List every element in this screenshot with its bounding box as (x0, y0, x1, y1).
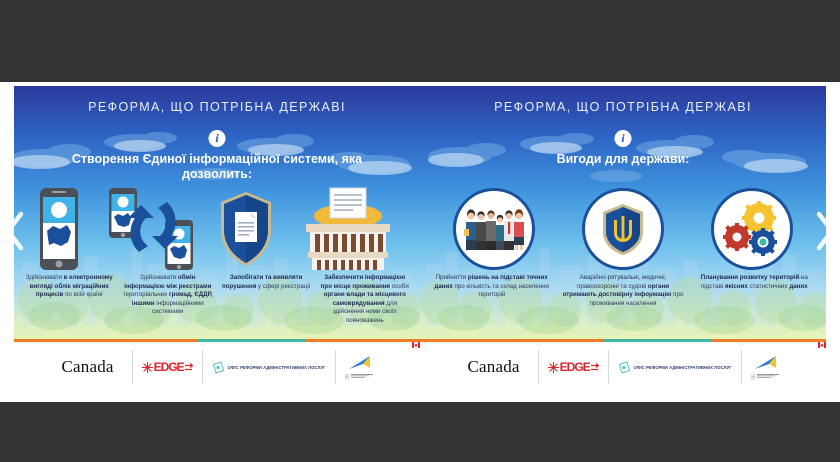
shield-trident-emblem-icon (601, 202, 645, 256)
slide-subtitle: Вигоди для держави: (420, 152, 826, 167)
ukraine-ministry-caption (751, 374, 779, 380)
canada-wordmark-text: Canada (61, 357, 122, 377)
canada-flag-icon (412, 342, 420, 348)
carousel-prev-button[interactable] (2, 209, 28, 253)
logo-edge: EDGE (132, 350, 202, 384)
chevron-right-icon (812, 209, 838, 253)
ofis-diamond-icon (212, 361, 225, 374)
gears-icon (721, 201, 783, 257)
icon-cell-1 (105, 186, 197, 272)
edge-arrow-icon (591, 363, 599, 372)
ukraine-flag-mark (345, 355, 373, 380)
footer-logo-bar: Canada EDGE (14, 342, 420, 392)
logo-edge: EDGE (538, 350, 608, 384)
caption-2: Запобігати та виявляти порушення у сфері… (217, 274, 316, 336)
slide-icons-row (420, 182, 826, 276)
icon-cell-1 (582, 188, 664, 270)
slide-title: РЕФОРМА, ЩО ПОТРІБНА ДЕРЖАВІ (420, 100, 826, 114)
slide-captions: Здійснювати в електронному вигляді облік… (14, 274, 420, 336)
ofis-reform-text: ОФІС РЕФОРМИ АДМІНІСТРАТИВНИХ ПОСЛУГ (634, 365, 732, 370)
ukraine-swoosh-icon (346, 355, 372, 372)
logo-ofis-reform: ОФІС РЕФОРМИ АДМІНІСТРАТИВНИХ ПОСЛУГ (608, 350, 741, 384)
chevron-left-icon (2, 209, 28, 253)
logo-ukraine-ministry (335, 350, 382, 384)
page-root: РЕФОРМА, ЩО ПОТРІБНА ДЕРЖАВІ i Створення… (0, 0, 840, 462)
canada-flag-icon (818, 342, 826, 348)
ukraine-ministry-caption (345, 374, 373, 380)
canada-wordmark-text: Canada (467, 357, 528, 377)
icon-cell-0 (453, 188, 535, 270)
info-icon: i (209, 130, 226, 147)
carousel-track: РЕФОРМА, ЩО ПОТРІБНА ДЕРЖАВІ i Створення… (14, 86, 826, 392)
government-building-document-icon (296, 186, 400, 272)
caption-0: Прийняття рішень на підставі точних дани… (426, 274, 557, 336)
edge-wordmark-text: EDGE (560, 360, 590, 374)
smartphone-map-icon (34, 186, 84, 272)
ofis-reform-text: ОФІС РЕФОРМИ АДМІНІСТРАТИВНИХ ПОСЛУГ (228, 365, 326, 370)
edge-mark-icon: EDGE (142, 360, 193, 374)
ministry-text-lines (351, 374, 373, 379)
people-group-icon (463, 205, 525, 253)
caption-1: Аварійно-рятувальні, медичні, правоохоро… (557, 274, 688, 336)
trident-small-icon (345, 374, 349, 380)
caption-2: Планування розвитку територій на підстав… (689, 274, 820, 336)
trident-small-icon (751, 374, 755, 380)
slide-subtitle: Створення Єдиної інформаційної системи, … (14, 152, 420, 182)
logo-canada: Canada (52, 350, 131, 384)
icon-cell-2 (217, 186, 275, 272)
slide-title: РЕФОРМА, ЩО ПОТРІБНА ДЕРЖАВІ (14, 100, 420, 114)
banner-carousel[interactable]: РЕФОРМА, ЩО ПОТРІБНА ДЕРЖАВІ i Створення… (14, 86, 826, 392)
ukraine-flag-mark (751, 355, 779, 380)
ofis-reform-mark: ОФІС РЕФОРМИ АДМІНІСТРАТИВНИХ ПОСЛУГ (618, 361, 732, 374)
edge-snowflake-icon (142, 362, 153, 373)
ofis-reform-mark: ОФІС РЕФОРМИ АДМІНІСТРАТИВНИХ ПОСЛУГ (212, 361, 326, 374)
logo-ukraine-ministry (741, 350, 788, 384)
circle-frame-emblem (582, 188, 664, 270)
circle-frame-gears (711, 188, 793, 270)
icon-cell-3 (296, 186, 400, 272)
edge-mark-icon: EDGE (548, 360, 599, 374)
circle-frame-people (453, 188, 535, 270)
carousel-next-button[interactable] (812, 209, 838, 253)
caption-1: Здійснювати обмін інформацією між реєстр… (119, 274, 218, 336)
caption-3: Забезпечити інформацією про місце прожив… (316, 274, 415, 336)
edge-arrow-icon (185, 363, 193, 372)
ukraine-swoosh-icon (752, 355, 778, 372)
carousel-slide-system[interactable]: РЕФОРМА, ЩО ПОТРІБНА ДЕРЖАВІ i Створення… (14, 86, 420, 392)
ministry-text-lines (757, 374, 779, 379)
edge-snowflake-icon (548, 362, 559, 373)
caption-0: Здійснювати в електронному вигляді облік… (20, 274, 119, 336)
icon-cell-0 (34, 186, 84, 272)
slide-captions: Прийняття рішень на підставі точних дани… (420, 274, 826, 336)
footer-logo-bar: Canada EDGE (420, 342, 826, 392)
info-icon: i (615, 130, 632, 147)
shield-document-icon (217, 186, 275, 272)
ofis-diamond-icon (618, 361, 631, 374)
icon-cell-2 (711, 188, 793, 270)
slide-icons-row (14, 184, 420, 272)
phone-sync-exchange-icon (105, 186, 197, 272)
carousel-slide-benefits[interactable]: РЕФОРМА, ЩО ПОТРІБНА ДЕРЖАВІ i Вигоди дл… (420, 86, 826, 392)
edge-wordmark-text: EDGE (154, 360, 184, 374)
logo-canada: Canada (458, 350, 537, 384)
logo-ofis-reform: ОФІС РЕФОРМИ АДМІНІСТРАТИВНИХ ПОСЛУГ (202, 350, 335, 384)
